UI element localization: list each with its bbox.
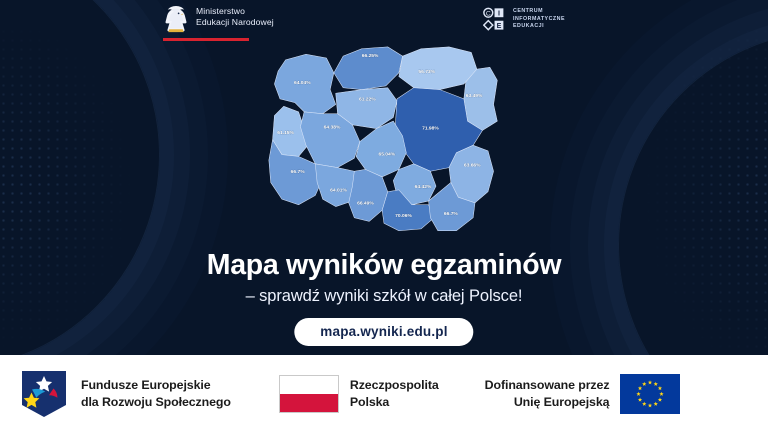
- footer-text-polska: Rzeczpospolita Polska: [350, 377, 439, 410]
- map-label-lubelskie: 63.66%: [464, 163, 481, 169]
- map-label-opolskie: 64.01%: [330, 188, 347, 194]
- cie-line-3: EDUKACJI: [513, 23, 565, 31]
- footer-pl-line-2: Polska: [350, 394, 439, 410]
- ministry-line-1: Ministerstwo: [196, 6, 274, 17]
- cie-line-2: INFORMATYCZNE: [513, 16, 565, 24]
- map-label-zachodniopomorskie: 64.04%: [294, 80, 311, 86]
- poland-flag-icon: [279, 375, 339, 413]
- svg-text:E: E: [497, 22, 502, 30]
- map-label-slaskie: 66.49%: [357, 201, 374, 207]
- map-region-lodzkie[interactable]: [356, 121, 406, 177]
- footer-item-unia-europejska: Dofinansowane przez Unię Europejską: [485, 374, 681, 414]
- map-label-mazowieckie: 71.98%: [422, 126, 439, 132]
- ministry-line-2: Edukacji Narodowej: [196, 17, 274, 28]
- ministry-red-rule: [163, 38, 249, 41]
- footer-text-unia: Dofinansowane przez Unię Europejską: [485, 377, 610, 410]
- cie-line-1: CENTRUM: [513, 8, 565, 16]
- footer-item-rzeczpospolita-polska: Rzeczpospolita Polska: [279, 375, 439, 413]
- page-subtitle: – sprawdź wyniki szkół w całej Polsce!: [0, 287, 768, 306]
- cie-name: CENTRUM INFORMATYCZNE EDUKACJI: [513, 8, 565, 31]
- svg-text:I: I: [498, 9, 500, 17]
- map-label-dolnoslaskie: 66.7%: [291, 169, 306, 175]
- footer-eu-line-2: Unię Europejską: [485, 394, 610, 410]
- cie-monogram-icon: C I E: [483, 7, 508, 32]
- poland-map[interactable]: 66.25%64.04%56.73%63.49%61.22%61.15%64.3…: [248, 32, 520, 240]
- map-label-swietokrzyskie: 64.42%: [415, 184, 432, 190]
- map-label-wielkopolskie: 64.38%: [324, 125, 341, 131]
- svg-text:C: C: [486, 10, 491, 17]
- map-label-warminsko-mazurskie: 56.73%: [418, 69, 435, 75]
- hero-section: Ministerstwo Edukacji Narodowej C I E CE…: [0, 0, 768, 355]
- fundusze-europejskie-logo: [18, 369, 70, 419]
- footer-fe-line-2: dla Rozwoju Społecznego: [81, 394, 231, 410]
- ministry-name: Ministerstwo Edukacji Narodowej: [196, 4, 274, 28]
- polish-eagle-icon: [163, 4, 189, 36]
- footer-eu-line-1: Dofinansowane przez: [485, 377, 610, 393]
- footer-fe-line-1: Fundusze Europejskie: [81, 377, 231, 393]
- eu-flag-icon: [620, 374, 680, 414]
- map-label-lodzkie: 65.04%: [378, 152, 395, 158]
- map-label-podkarpackie: 66.7%: [444, 211, 459, 217]
- footer-pl-line-1: Rzeczpospolita: [350, 377, 439, 393]
- map-label-pomorskie: 66.25%: [362, 53, 379, 59]
- site-url-button[interactable]: mapa.wyniki.edu.pl: [294, 318, 473, 346]
- map-label-lubuskie: 61.15%: [277, 130, 294, 136]
- map-region-warminsko-mazurskie[interactable]: [399, 47, 477, 90]
- footer-item-fundusze-europejskie: Fundusze Europejskie dla Rozwoju Społecz…: [18, 369, 231, 419]
- page-title: Mapa wyników egzaminów: [0, 249, 768, 282]
- eu-funding-footer: Fundusze Europejskie dla Rozwoju Społecz…: [0, 355, 768, 432]
- map-label-malopolskie: 70.06%: [395, 213, 412, 219]
- flag-red-stripe: [280, 394, 338, 412]
- cie-logo: C I E CENTRUM INFORMATYCZNE EDUKACJI: [483, 7, 565, 32]
- map-label-kujawsko-pomorskie: 61.22%: [359, 97, 376, 103]
- banner-root: Ministerstwo Edukacji Narodowej C I E CE…: [0, 0, 768, 432]
- footer-text-fundusze: Fundusze Europejskie dla Rozwoju Społecz…: [81, 377, 231, 410]
- flag-white-stripe: [280, 376, 338, 394]
- map-label-podlaskie: 63.49%: [466, 93, 483, 99]
- map-region-slaskie[interactable]: [349, 169, 388, 221]
- poland-map-svg: 66.25%64.04%56.73%63.49%61.22%61.15%64.3…: [248, 32, 520, 240]
